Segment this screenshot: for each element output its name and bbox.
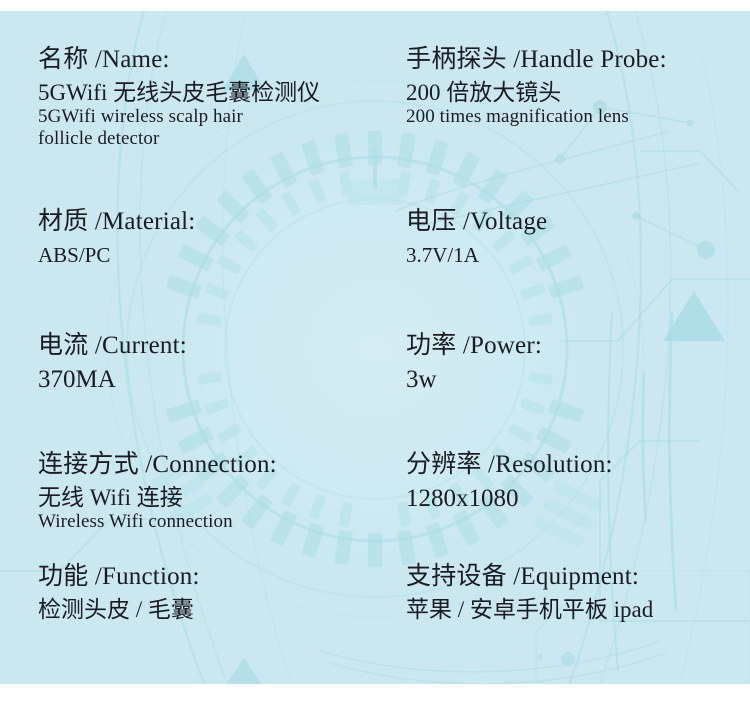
spec-label-material: 材质 /Material: — [38, 207, 398, 237]
spec-label-voltage: 电压 /Voltage — [406, 207, 750, 237]
spec-item-voltage: 电压 /Voltage 3.7V/1A — [406, 207, 750, 268]
spec-value-resolution: 1280x1080 — [406, 484, 750, 514]
spec-value-name-en-1: 5GWifi wireless scalp hair — [38, 106, 398, 128]
spec-item-equipment: 支持设备 /Equipment: 苹果 / 安卓手机平板 ipad — [406, 562, 750, 623]
spec-value-equipment-cn: 苹果 / 安卓手机平板 ipad — [406, 596, 750, 624]
spec-item-function: 功能 /Function: 检测头皮 / 毛囊 — [38, 562, 398, 623]
spec-value-function-cn: 检测头皮 / 毛囊 — [38, 596, 398, 624]
spec-value-current: 370MA — [38, 365, 398, 395]
spec-label-name: 名称 /Name: — [38, 45, 398, 75]
spec-item-power: 功率 /Power: 3w — [406, 331, 750, 395]
spec-label-function: 功能 /Function: — [38, 562, 398, 592]
spec-value-name-en-2: follicle detector — [38, 128, 398, 150]
spec-item-current: 电流 /Current: 370MA — [38, 331, 398, 395]
spec-label-resolution: 分辨率 /Resolution: — [406, 450, 750, 480]
spec-value-connection-en: Wireless Wifi connection — [38, 511, 398, 533]
spec-label-power: 功率 /Power: — [406, 331, 750, 361]
spec-label-current: 电流 /Current: — [38, 331, 398, 361]
spec-value-power: 3w — [406, 365, 750, 395]
spec-value-handle-probe-en-1: 200 times magnification lens — [406, 106, 750, 128]
spec-item-name: 名称 /Name: 5GWifi 无线头皮毛囊检测仪 5GWifi wirele… — [38, 45, 398, 149]
spec-label-equipment: 支持设备 /Equipment: — [406, 562, 750, 592]
spec-value-connection-cn: 无线 Wifi 连接 — [38, 484, 398, 512]
spec-label-connection: 连接方式 /Connection: — [38, 450, 398, 480]
spec-item-connection: 连接方式 /Connection: 无线 Wifi 连接 Wireless Wi… — [38, 450, 398, 533]
spec-value-name-cn: 5GWifi 无线头皮毛囊检测仪 — [38, 79, 398, 107]
spec-grid: 名称 /Name: 5GWifi 无线头皮毛囊检测仪 5GWifi wirele… — [0, 11, 750, 684]
spec-value-handle-probe-cn: 200 倍放大镜头 — [406, 79, 750, 107]
spec-value-voltage: 3.7V/1A — [406, 243, 750, 268]
spec-label-handle-probe: 手柄探头 /Handle Probe: — [406, 45, 750, 75]
spec-item-handle-probe: 手柄探头 /Handle Probe: 200 倍放大镜头 200 times … — [406, 45, 750, 128]
spec-item-resolution: 分辨率 /Resolution: 1280x1080 — [406, 450, 750, 514]
product-spec-banner: 名称 /Name: 5GWifi 无线头皮毛囊检测仪 5GWifi wirele… — [0, 0, 750, 705]
spec-item-material: 材质 /Material: ABS/PC — [38, 207, 398, 268]
spec-panel: 名称 /Name: 5GWifi 无线头皮毛囊检测仪 5GWifi wirele… — [0, 11, 750, 684]
spec-value-material: ABS/PC — [38, 243, 398, 268]
